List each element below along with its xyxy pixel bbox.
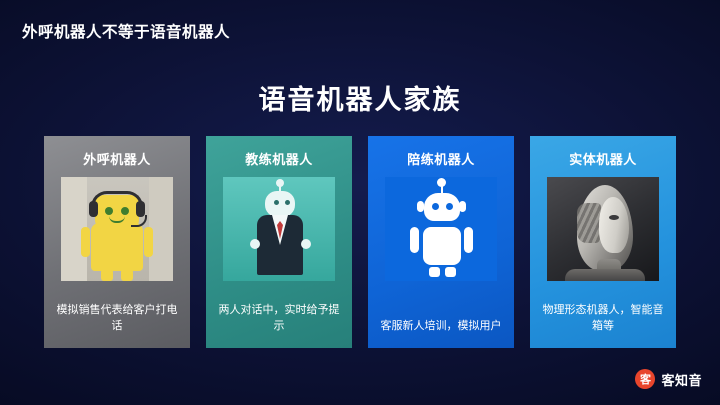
brand-logo: 客 客知音	[635, 369, 702, 389]
yellow-headset-robot-icon	[61, 177, 173, 281]
android-head-photo	[547, 177, 659, 281]
suited-robot-icon	[223, 177, 335, 281]
logo-mark-icon: 客	[635, 369, 655, 389]
card-outbound-robot[interactable]: 外呼机器人 模拟销售代表给客户打电话	[44, 136, 190, 348]
card-description: 物理形态机器人，智能音箱等	[538, 303, 668, 335]
card-physical-robot[interactable]: 实体机器人 物理形态机器人，智能音箱等	[530, 136, 676, 348]
card-title: 教练机器人	[245, 149, 313, 168]
card-description: 模拟销售代表给客户打电话	[52, 303, 182, 335]
card-title: 陪练机器人	[407, 149, 475, 168]
page-title: 语音机器人家族	[0, 78, 720, 117]
white-robot-icon	[385, 177, 497, 281]
card-description: 两人对话中，实时给予提示	[214, 303, 344, 335]
card-title: 实体机器人	[569, 149, 637, 168]
logo-text: 客知音	[661, 370, 702, 389]
slide-heading: 外呼机器人不等于语音机器人	[22, 20, 230, 42]
card-coach-robot[interactable]: 教练机器人 两人对话中，实时给予提示	[206, 136, 352, 348]
card-list: 外呼机器人 模拟销售代表给客户打电话 教练机器人 两人对话中，实时给予提示	[44, 136, 676, 348]
card-description: 客服新人培训，模拟用户	[376, 319, 506, 335]
card-practice-robot[interactable]: 陪练机器人 客服新人培训，模拟用户	[368, 136, 514, 348]
card-title: 外呼机器人	[83, 149, 151, 168]
